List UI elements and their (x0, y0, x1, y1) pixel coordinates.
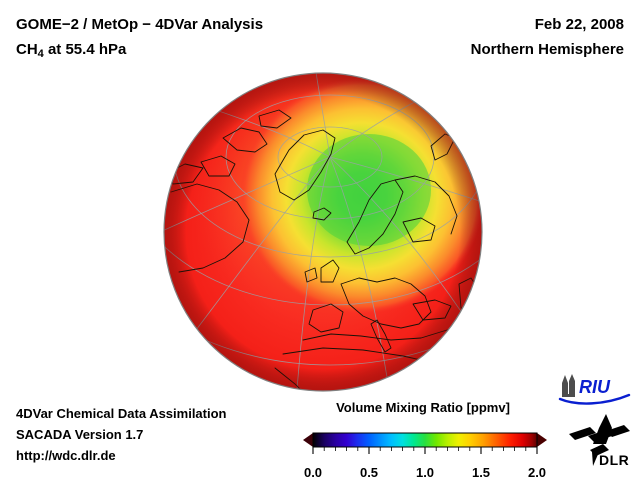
species-level-label: CH4 at 55.4 hPa (16, 37, 263, 67)
colorbar-tick-labels: 0.0 0.5 1.0 1.5 2.0 (300, 465, 550, 481)
riu-logo: RIU (557, 373, 631, 405)
colorbar-max-arrow (537, 433, 547, 447)
colorbar-gradient (313, 433, 537, 447)
footer-line-assimilation: 4DVar Chemical Data Assimilation (16, 403, 227, 424)
colorbar-tick-0: 0.0 (304, 465, 322, 480)
limb-darkening (164, 73, 482, 391)
colorbar-svg (300, 421, 550, 465)
colorbar-tick-4: 2.0 (528, 465, 546, 480)
colorbar-title: Volume Mixing Ratio [ppmv] (303, 400, 543, 415)
colorbar-min-arrow (303, 433, 313, 447)
dlr-logo: DLR (566, 412, 632, 468)
orthographic-projection (163, 72, 483, 392)
footer-line-url[interactable]: http://wdc.dlr.de (16, 445, 227, 466)
pressure-level: at 55.4 hPa (44, 41, 127, 58)
colorbar-graphic (300, 421, 550, 465)
footer-line-version: SACADA Version 1.7 (16, 424, 227, 445)
riu-spires-icon (562, 374, 575, 397)
analysis-date: Feb 22, 2008 (471, 12, 624, 37)
footer-info: 4DVar Chemical Data Assimilation SACADA … (16, 403, 227, 466)
dlr-wordmark: DLR (599, 452, 629, 468)
riu-wordmark: RIU (579, 377, 611, 397)
header-left: GOME−2 / MetOp − 4DVar Analysis CH4 at 5… (16, 12, 263, 67)
dlr-logo-svg: DLR (566, 412, 632, 468)
analysis-title: GOME−2 / MetOp − 4DVar Analysis (16, 12, 263, 37)
region-label: Northern Hemisphere (471, 37, 624, 62)
riu-logo-svg: RIU (557, 373, 631, 405)
species-name: CH (16, 41, 38, 58)
header-right: Feb 22, 2008 Northern Hemisphere (471, 12, 624, 62)
colorbar-tick-1: 0.5 (360, 465, 378, 480)
colorbar: Volume Mixing Ratio [ppmv] (300, 400, 550, 481)
colorbar-tick-2: 1.0 (416, 465, 434, 480)
globe-map (163, 72, 483, 392)
globe-data-field (163, 72, 483, 392)
colorbar-tick-3: 1.5 (472, 465, 490, 480)
